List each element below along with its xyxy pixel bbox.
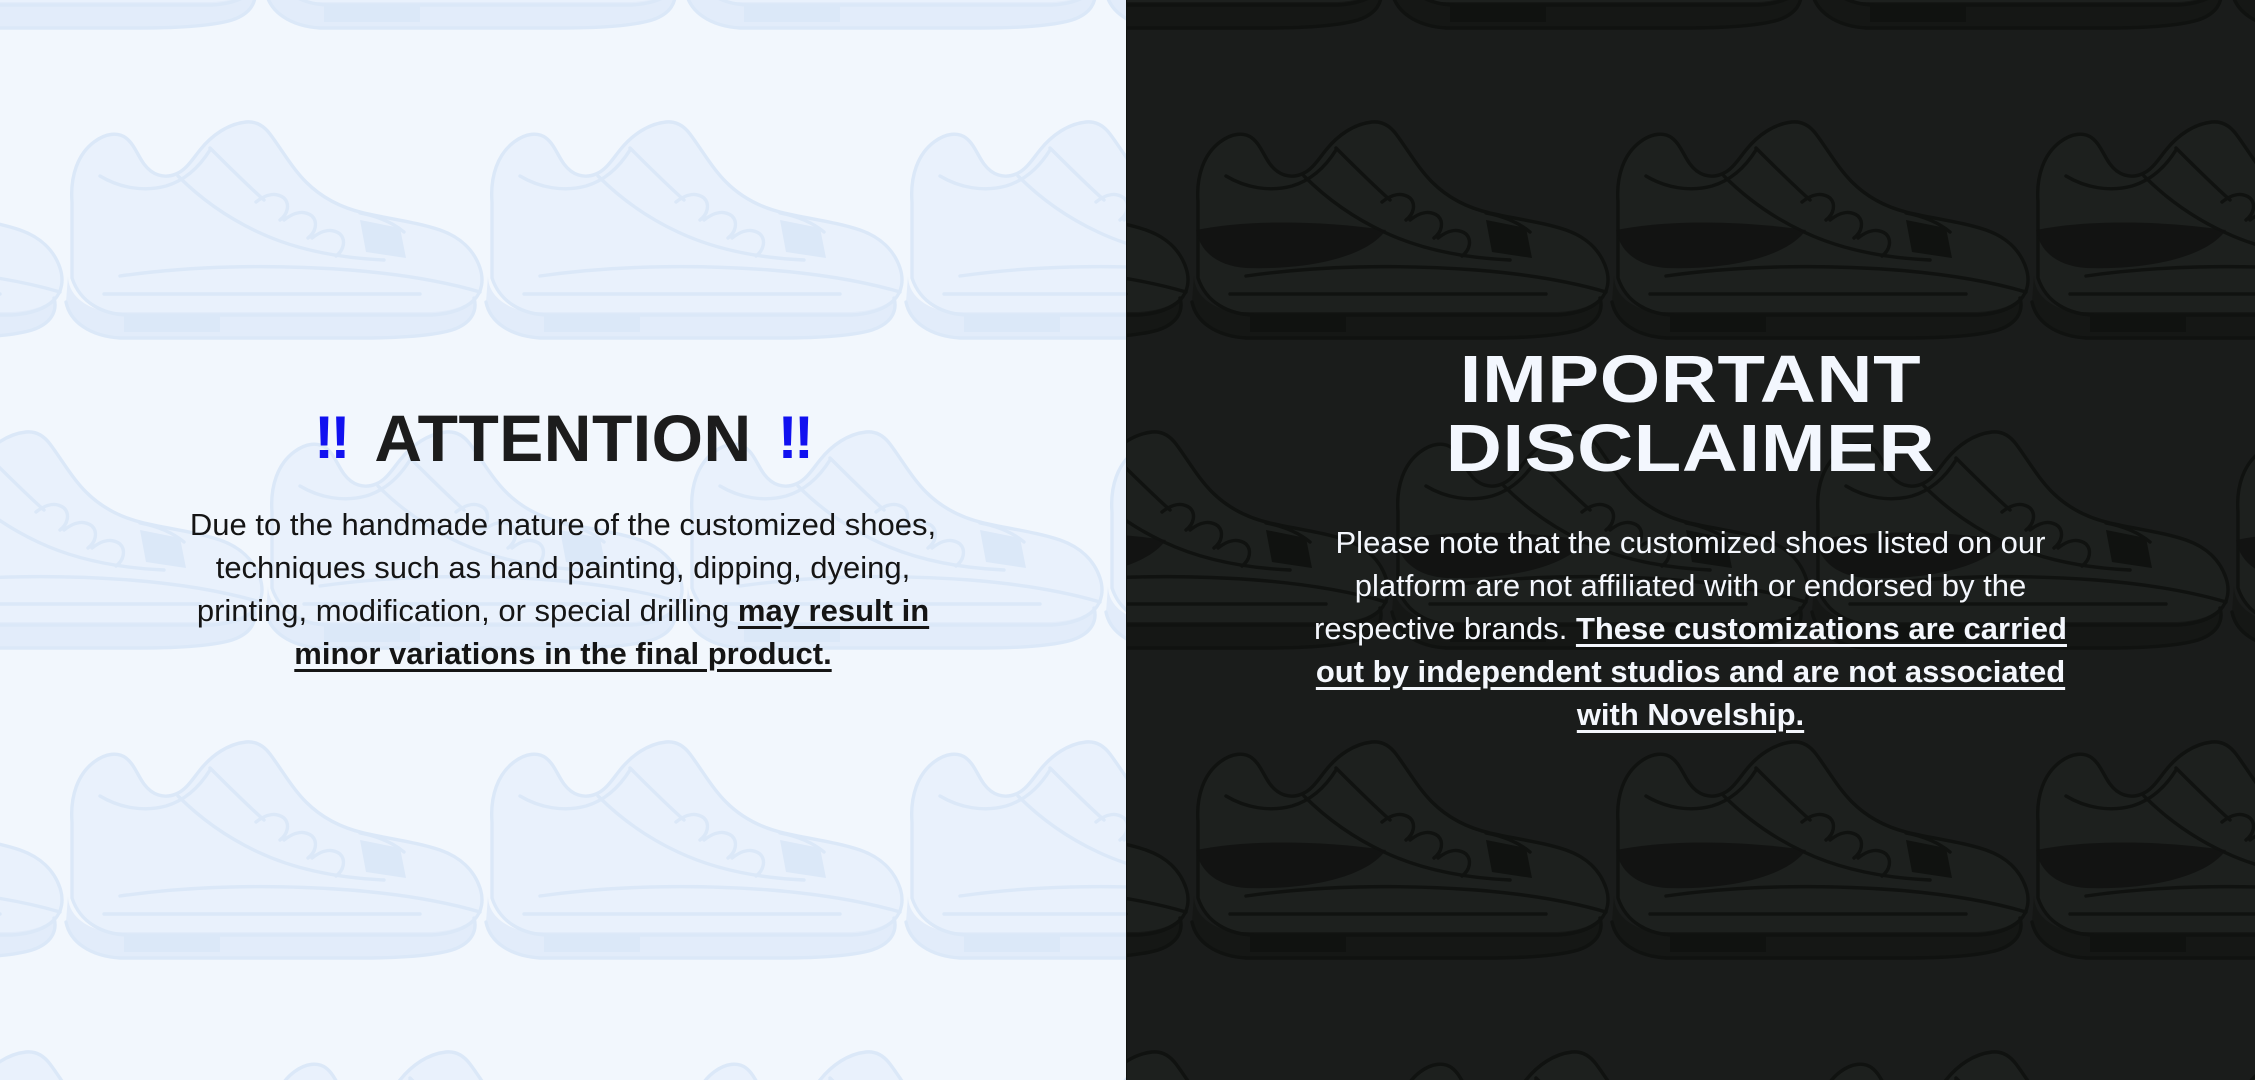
disclaimer-heading-line1: IMPORTANT (1126, 345, 2255, 414)
disclaimer-content: IMPORTANT DISCLAIMER Please note that th… (1126, 345, 2255, 736)
disclaimer-panel: IMPORTANT DISCLAIMER Please note that th… (1126, 0, 2255, 1080)
double-exclamation-icon-right: ‼ (778, 408, 812, 468)
disclaimer-body: Please note that the customized shoes li… (1291, 521, 2091, 736)
attention-panel: ‼ ATTENTION ‼ Due to the handmade nature… (0, 0, 1126, 1080)
attention-content: ‼ ATTENTION ‼ Due to the handmade nature… (0, 405, 1126, 675)
panel-divider (1126, 0, 1127, 1080)
disclaimer-heading: IMPORTANT DISCLAIMER (1126, 345, 2255, 483)
disclaimer-heading-line2: DISCLAIMER (1126, 414, 2255, 483)
disclaimer-board: ‼ ATTENTION ‼ Due to the handmade nature… (0, 0, 2255, 1080)
attention-heading: ‼ ATTENTION ‼ (40, 405, 1086, 473)
attention-heading-text: ATTENTION (374, 405, 751, 473)
attention-body: Due to the handmade nature of the custom… (168, 503, 958, 675)
double-exclamation-icon-left: ‼ (314, 408, 348, 468)
